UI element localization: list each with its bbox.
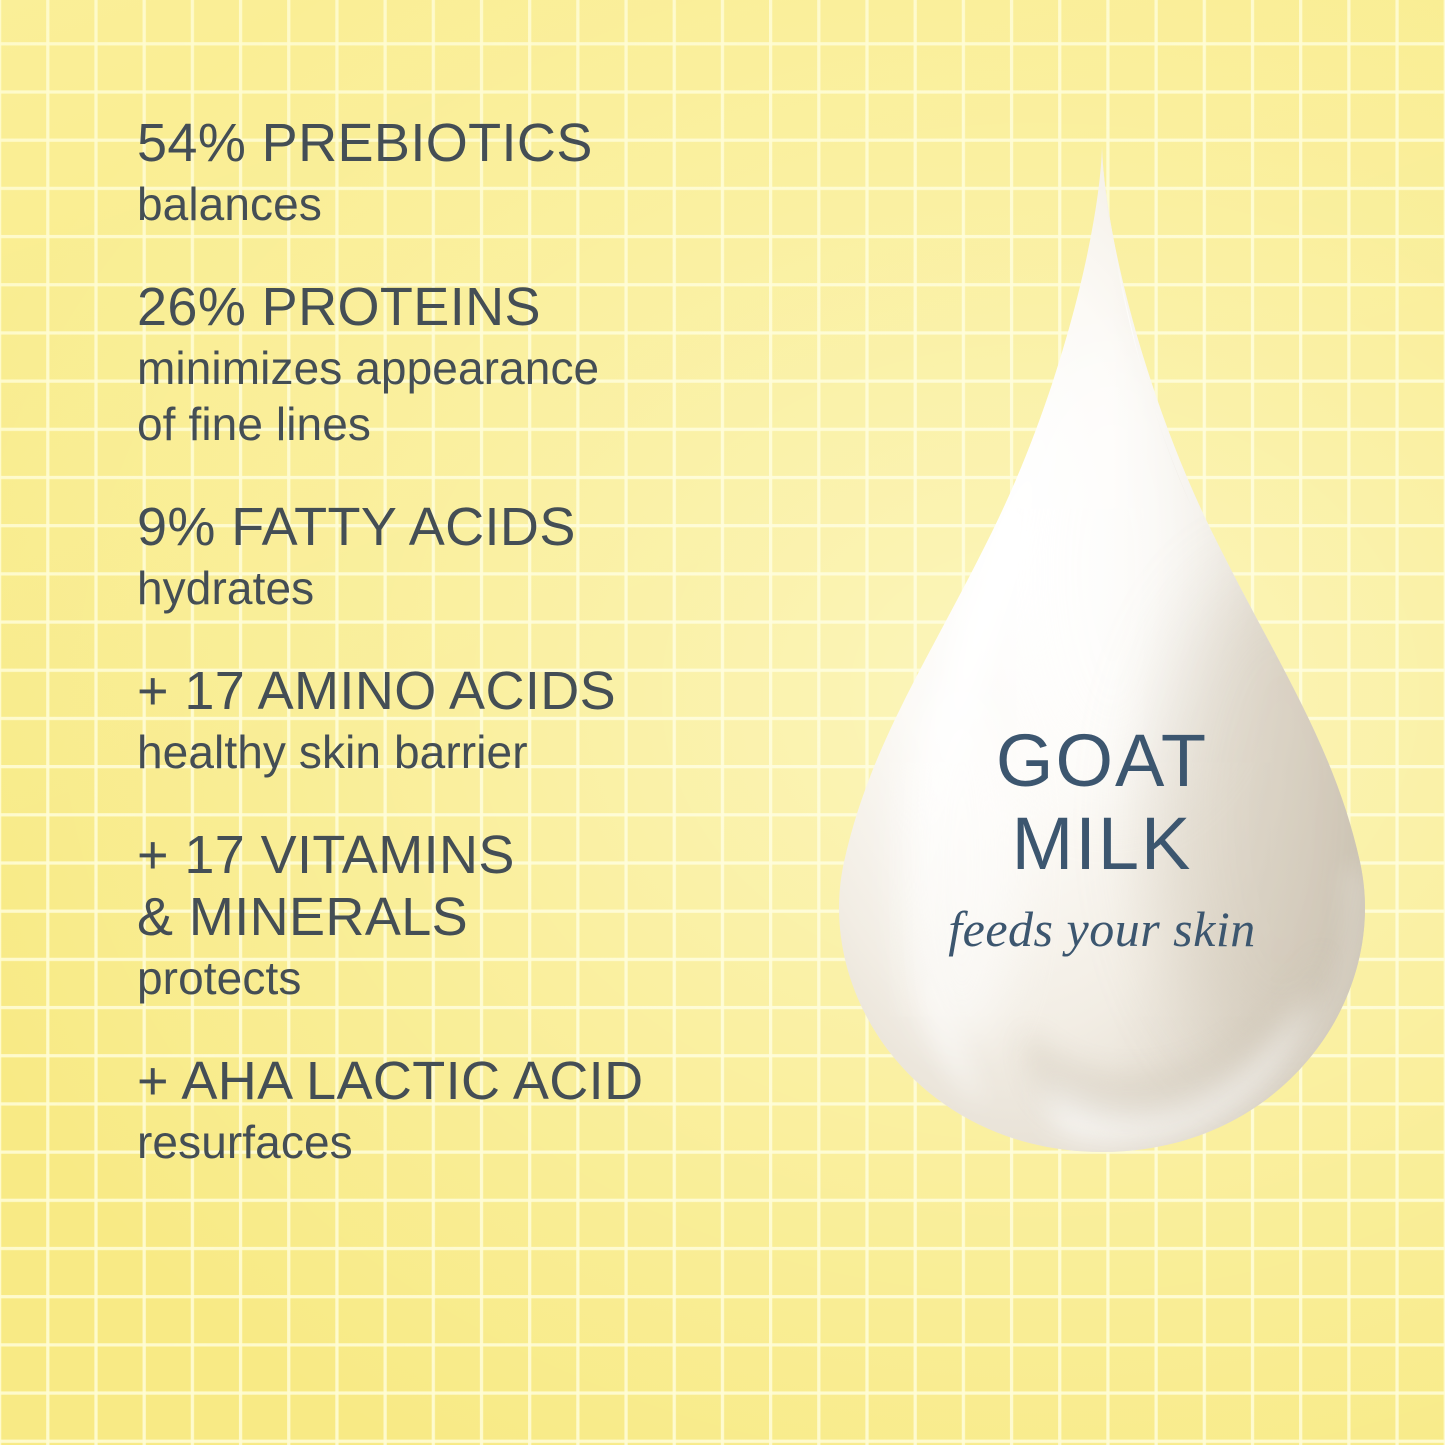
stat-block-vitamins-minerals: + 17 VITAMINS & MINERALS protects	[137, 824, 837, 1006]
stat-block-fatty-acids: 9% FATTY ACIDS hydrates	[137, 496, 837, 616]
ingredient-stat-list: 54% PREBIOTICS balances 26% PROTEINS min…	[137, 112, 837, 1170]
stat-benefit: hydrates	[137, 560, 837, 616]
stat-heading: + 17 VITAMINS & MINERALS	[137, 824, 837, 948]
stat-block-amino-acids: + 17 AMINO ACIDS healthy skin barrier	[137, 660, 837, 780]
milk-droplet-illustration	[812, 140, 1392, 1200]
stat-benefit: resurfaces	[137, 1114, 837, 1170]
stat-benefit: minimizes appearance of fine lines	[137, 340, 837, 452]
stat-heading: + 17 AMINO ACIDS	[137, 660, 837, 722]
stat-benefit: protects	[137, 950, 837, 1006]
stat-heading: 26% PROTEINS	[137, 276, 837, 338]
stat-block-prebiotics: 54% PREBIOTICS balances	[137, 112, 837, 232]
product-infographic-poster: 54% PREBIOTICS balances 26% PROTEINS min…	[0, 0, 1445, 1445]
stat-benefit: healthy skin barrier	[137, 724, 837, 780]
stat-block-proteins: 26% PROTEINS minimizes appearance of fin…	[137, 276, 837, 452]
droplet-right-shadow	[1152, 570, 1412, 1070]
stat-heading: + AHA LACTIC ACID	[137, 1050, 837, 1112]
milk-droplet-icon	[812, 140, 1392, 1200]
stat-block-aha-lactic-acid: + AHA LACTIC ACID resurfaces	[137, 1050, 837, 1170]
droplet-left-glow	[904, 670, 1020, 1050]
stat-benefit: balances	[137, 176, 837, 232]
stat-heading: 54% PREBIOTICS	[137, 112, 837, 174]
stat-heading: 9% FATTY ACIDS	[137, 496, 837, 558]
